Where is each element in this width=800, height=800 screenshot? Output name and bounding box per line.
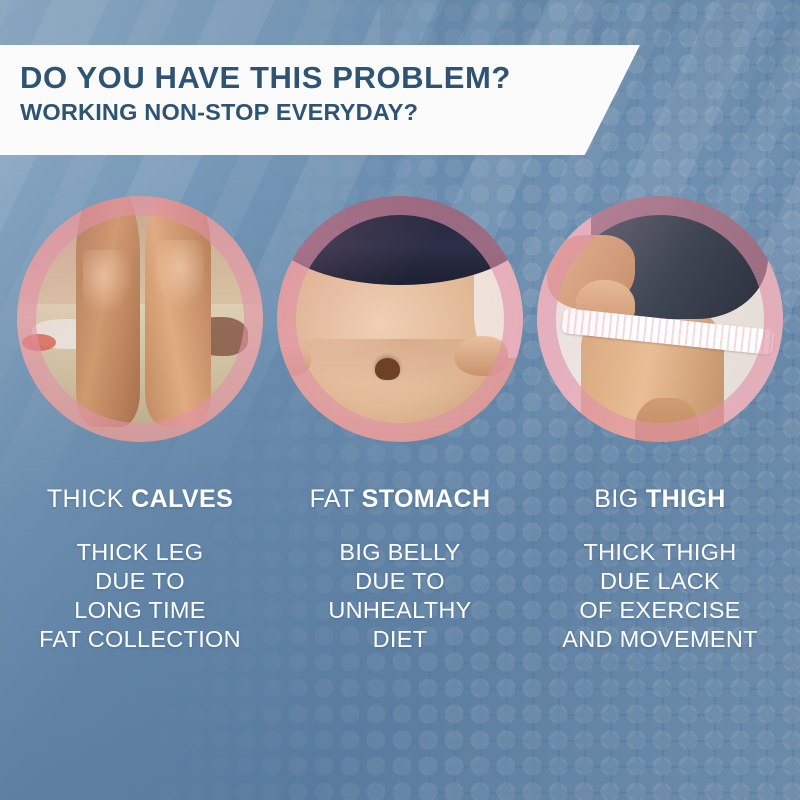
caption-title-thigh: BIG THIGH [594,485,725,514]
photo-clip [17,196,263,442]
caption-title-light: BIG [594,485,638,513]
desc-line: DUE TO [328,567,471,596]
problem-columns: THICK CALVES THICK LEG DUE TO LONG TIME … [0,196,800,654]
stomach-illustration [277,196,523,442]
caption-title-calves: THICK CALVES [47,485,233,514]
page-subtitle: WORKING NON-STOP EVERYDAY? [20,97,640,127]
photo-clip [537,196,783,442]
desc-line: THICK LEG [39,538,241,567]
desc-line: FAT COLLECTION [39,625,241,654]
caption-title-light: FAT [310,485,355,513]
big-thigh-photo [537,196,783,442]
caption-title-light: THICK [47,485,124,513]
column-calves: THICK CALVES THICK LEG DUE TO LONG TIME … [14,196,266,654]
desc-line: DUE LACK [562,567,758,596]
fat-stomach-photo [277,196,523,442]
caption-description-thigh: THICK THIGH DUE LACK OF EXERCISE AND MOV… [562,538,758,654]
desc-line: AND MOVEMENT [562,625,758,654]
photo-clip [277,196,523,442]
caption-title-bold: STOMACH [362,485,491,513]
desc-line: OF EXERCISE [562,596,758,625]
thick-calves-photo [17,196,263,442]
caption-title-bold: CALVES [131,485,233,513]
calves-illustration [17,196,263,442]
caption-title-stomach: FAT STOMACH [310,485,491,514]
desc-line: LONG TIME [39,596,241,625]
column-thigh: BIG THIGH THICK THIGH DUE LACK OF EXERCI… [534,196,786,654]
desc-line: DUE TO [39,567,241,596]
caption-title-bold: THIGH [646,485,726,513]
page-title: DO YOU HAVE THIS PROBLEM? [20,59,640,97]
thigh-illustration [537,196,783,442]
desc-line: UNHEALTHY [328,596,471,625]
desc-line: DIET [328,625,471,654]
poster-canvas: DO YOU HAVE THIS PROBLEM? WORKING NON-ST… [0,0,800,800]
column-stomach: FAT STOMACH BIG BELLY DUE TO UNHEALTHY D… [274,196,526,654]
caption-description-stomach: BIG BELLY DUE TO UNHEALTHY DIET [328,538,471,654]
desc-line: BIG BELLY [328,538,471,567]
desc-line: THICK THIGH [562,538,758,567]
header-banner: DO YOU HAVE THIS PROBLEM? WORKING NON-ST… [0,45,640,155]
caption-description-calves: THICK LEG DUE TO LONG TIME FAT COLLECTIO… [39,538,241,654]
